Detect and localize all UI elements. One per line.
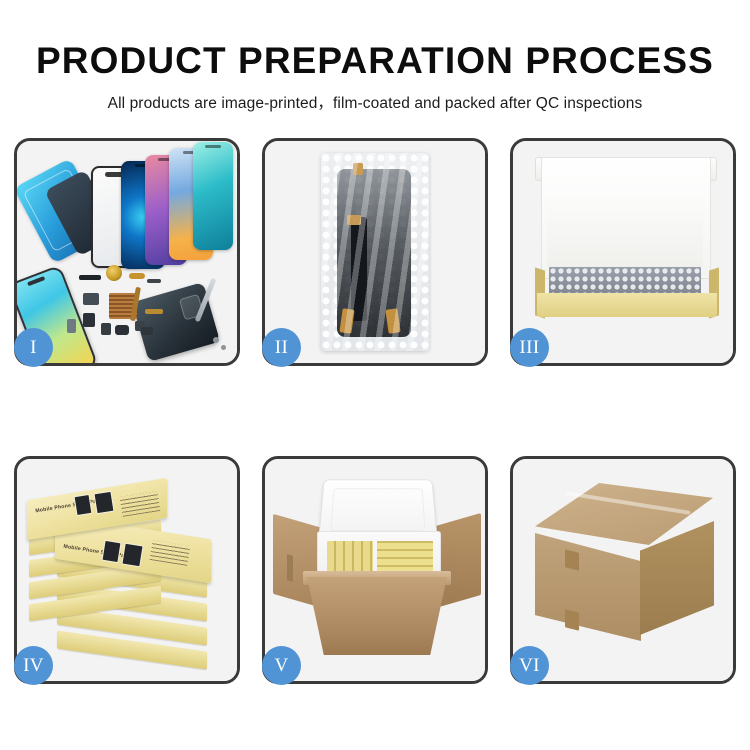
- process-step-grid: I II: [14, 138, 736, 684]
- sim-tray-icon: [67, 319, 76, 333]
- step-badge-5: V: [262, 646, 301, 685]
- step-6-image: [513, 459, 733, 681]
- step-badge-2: II: [262, 328, 301, 367]
- lid-phone-image-icon: [74, 494, 93, 516]
- phone-parts-scene: [17, 141, 237, 363]
- lid-phone-image-icon: [93, 491, 114, 515]
- carton-body-icon: [307, 577, 447, 655]
- page-title: PRODUCT PREPARATION PROCESS: [0, 0, 750, 81]
- step-badge-4: IV: [14, 646, 53, 685]
- speaker-module-icon: [106, 265, 122, 281]
- plastic-sheen-overlay: [321, 153, 429, 351]
- step-badge-6: VI: [510, 646, 549, 685]
- process-step-2[interactable]: II: [262, 138, 488, 366]
- box-front-panel-icon: [537, 293, 717, 317]
- spare-part-icon: [83, 293, 99, 305]
- step-1-image: [17, 141, 237, 363]
- carton-tape-icon: [565, 549, 579, 570]
- bubble-wrap-package-icon: [321, 153, 429, 351]
- carton-left-face-icon: [535, 533, 641, 641]
- process-step-4[interactable]: Mobile Phone Spare Parts Mobile Phone Sp…: [14, 456, 240, 684]
- step-badge-3: III: [510, 328, 549, 367]
- process-step-5[interactable]: V: [262, 456, 488, 684]
- step-4-image: Mobile Phone Spare Parts Mobile Phone Sp…: [17, 459, 237, 681]
- box-stack: Mobile Phone Spare Parts Mobile Phone Sp…: [23, 473, 237, 673]
- step-5-image: [265, 459, 485, 681]
- page-header: PRODUCT PREPARATION PROCESS All products…: [0, 0, 750, 113]
- lid-phone-image-icon: [121, 543, 143, 568]
- page-subtitle: All products are image-printed，film-coat…: [0, 81, 750, 113]
- screw-icon: [221, 345, 226, 350]
- lid-phone-image-icon: [101, 540, 121, 563]
- spare-part-icon: [83, 313, 95, 327]
- step-3-image: [513, 141, 733, 363]
- spare-part-icon: [79, 275, 101, 280]
- carton-tape-icon: [565, 609, 579, 630]
- carton-tape-icon: [287, 554, 293, 582]
- process-step-3[interactable]: III: [510, 138, 736, 366]
- step-2-image: [265, 141, 485, 363]
- spare-part-icon: [141, 327, 153, 335]
- spare-part-icon: [129, 273, 145, 279]
- phone-display-4-icon: [193, 142, 233, 250]
- spare-part-icon: [147, 279, 161, 283]
- process-step-6[interactable]: VI: [510, 456, 736, 684]
- step-badge-1: I: [14, 328, 53, 367]
- foam-lining-icon: [547, 199, 703, 267]
- spare-part-icon: [115, 325, 129, 335]
- spare-part-icon: [101, 323, 111, 335]
- notch-icon: [205, 145, 221, 148]
- spare-part-icon: [145, 309, 163, 314]
- product-preparation-process-page: PRODUCT PREPARATION PROCESS All products…: [0, 0, 750, 750]
- process-step-1[interactable]: I: [14, 138, 240, 366]
- screw-icon: [213, 337, 219, 343]
